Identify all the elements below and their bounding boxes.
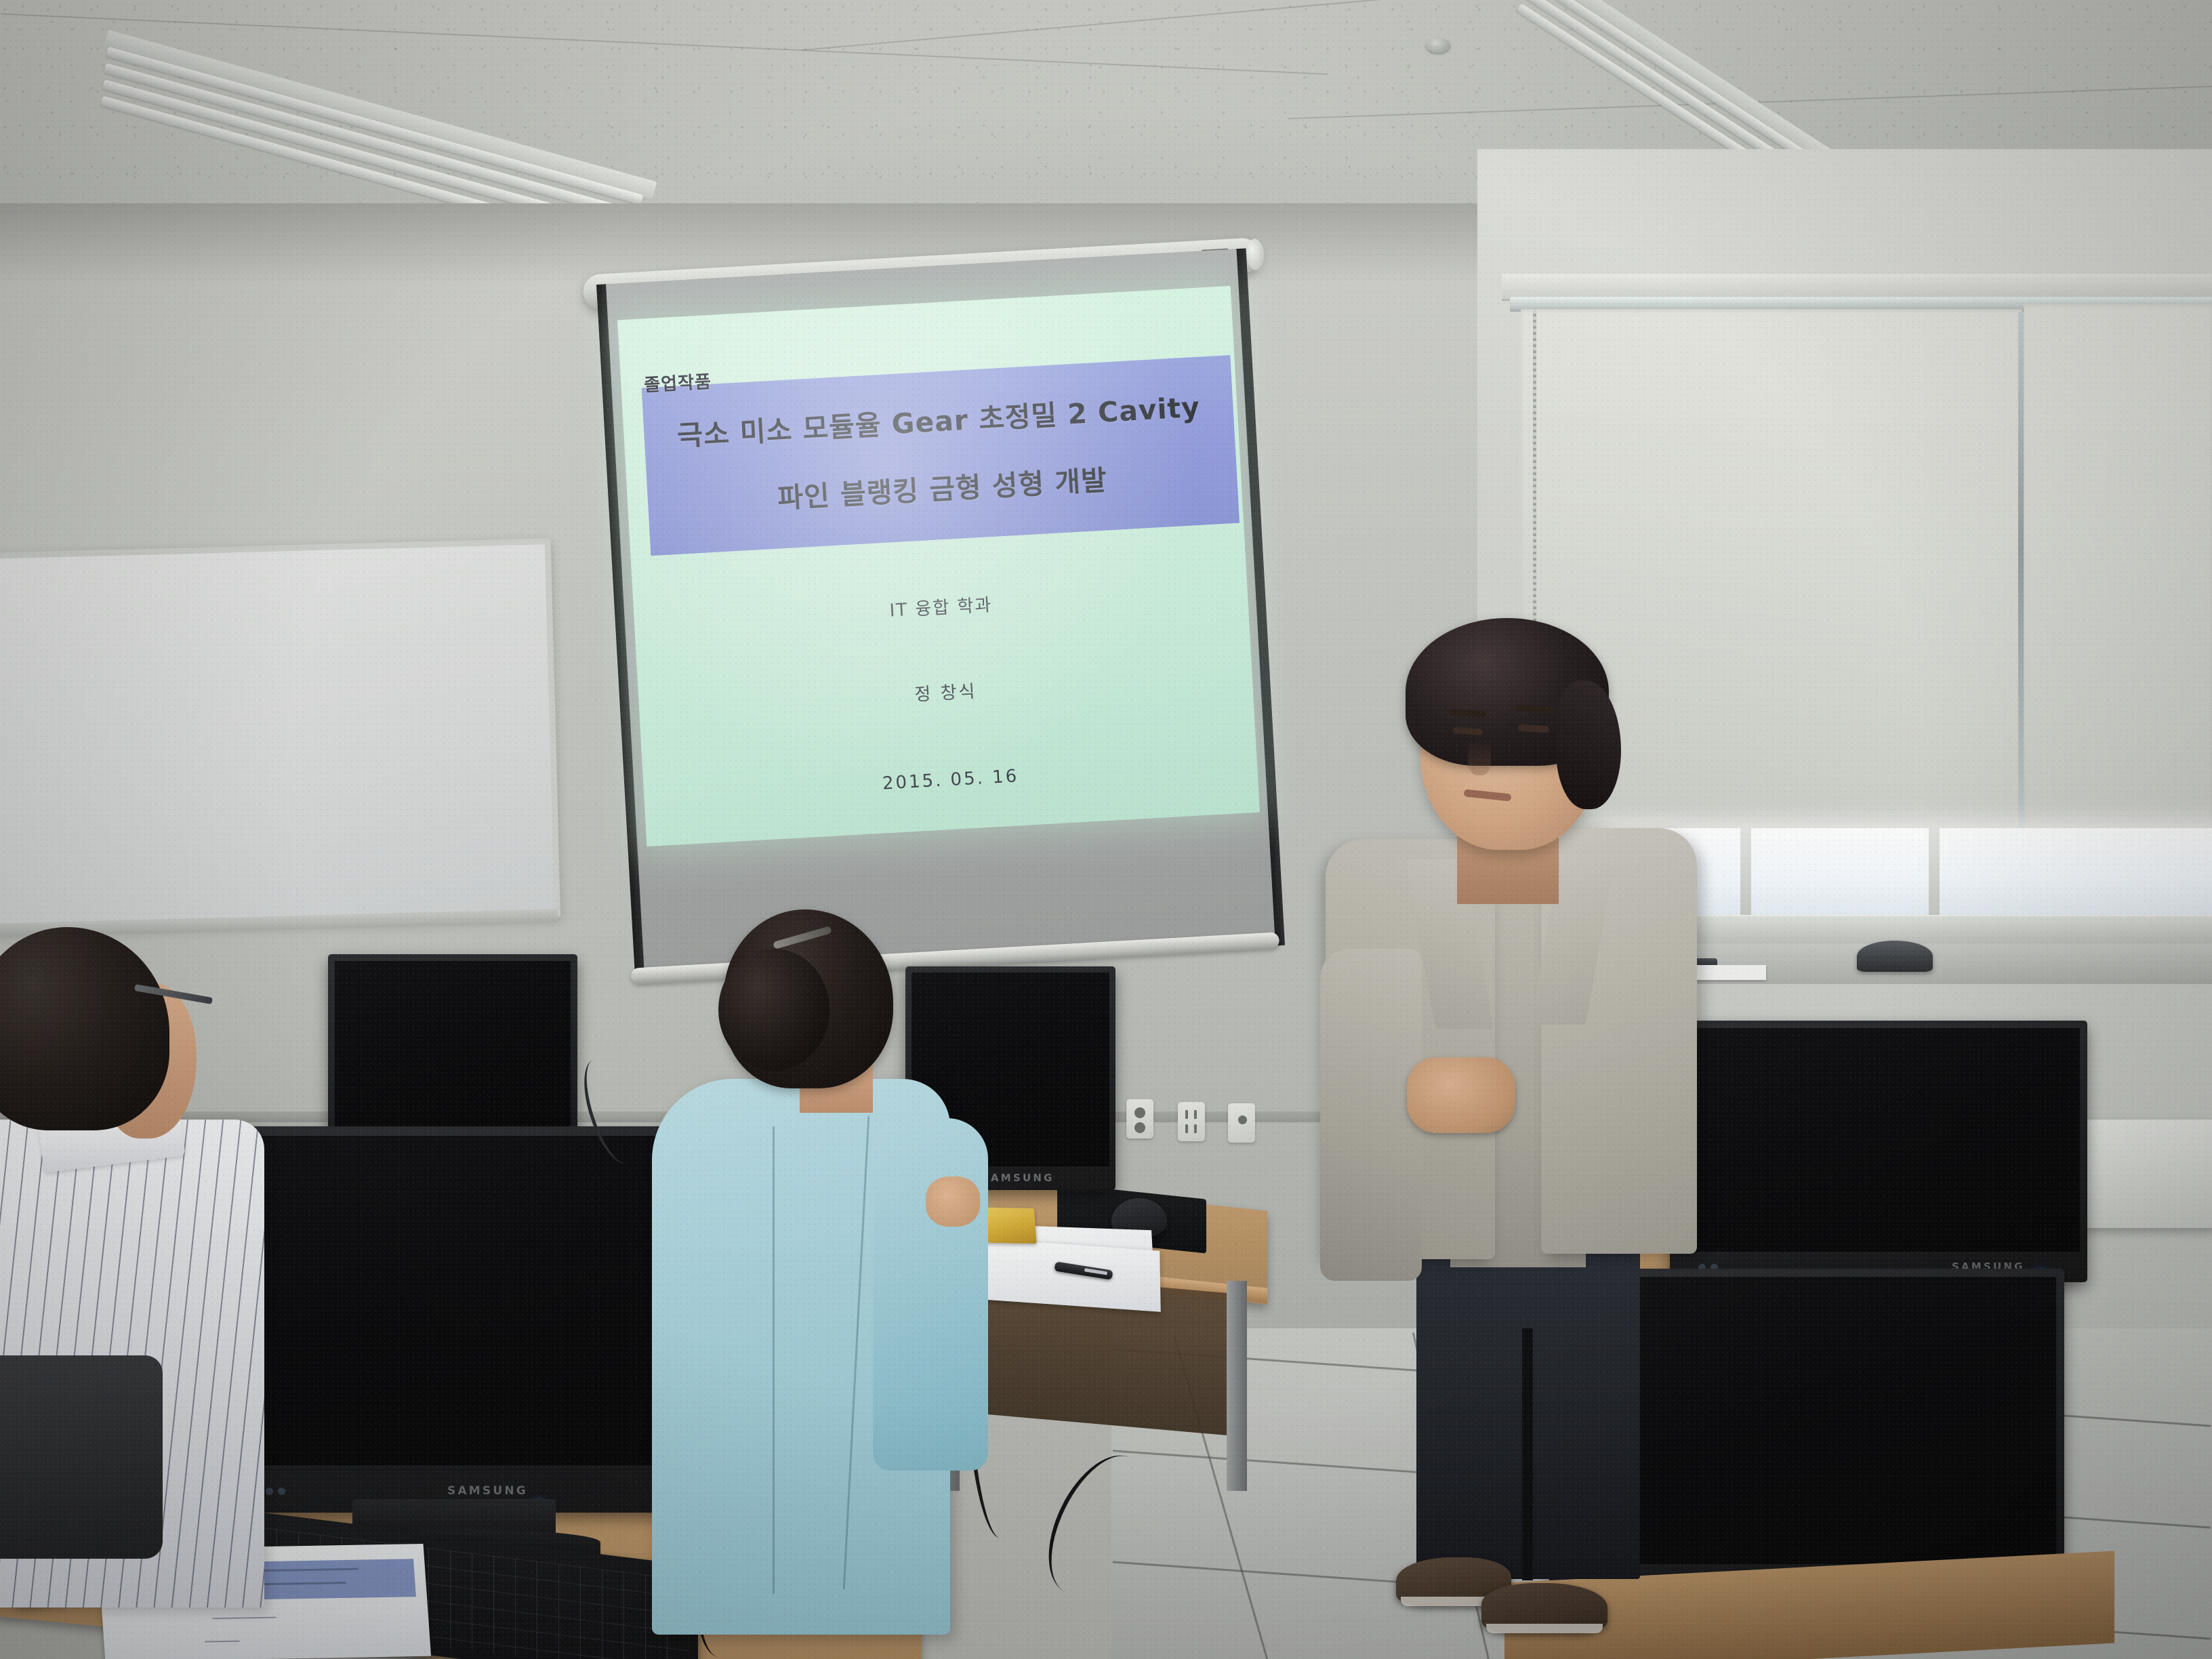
handout-department-line — [212, 1617, 276, 1620]
desk-center-leg — [1227, 1281, 1247, 1491]
whiteboard-surface — [0, 544, 554, 926]
monitor-menu-button[interactable] — [278, 1488, 285, 1495]
presenter-clasped-hands — [1407, 1057, 1515, 1133]
slide-title-band: 극소 미소 모듈율 Gear 초정밀 2 Cavity 파인 블랭킹 금형 성형… — [642, 355, 1240, 556]
presenter-arm-right — [1589, 943, 1689, 1262]
slide-department: IT 융합 학과 — [634, 577, 1248, 636]
monitor-front-left-buttons[interactable] — [266, 1488, 285, 1495]
woman-arm — [873, 1118, 988, 1471]
monitor-back-left-screen — [335, 961, 571, 1143]
whiteboard — [0, 538, 560, 933]
presenter-leg-separation — [1522, 1328, 1533, 1580]
outlet-hole — [1134, 1107, 1145, 1118]
slide-title-line-2: 파인 블랭킹 금형 성형 개발 — [647, 450, 1237, 523]
outlet-slot — [1185, 1110, 1188, 1119]
woman-hair-bun — [718, 949, 829, 1071]
blazer-seam — [843, 1115, 870, 1589]
monitor-right-back-screen — [1677, 1028, 2080, 1252]
handout-name-line — [205, 1641, 240, 1643]
pen-clip — [1084, 1268, 1107, 1275]
jack-port-icon — [1238, 1115, 1247, 1124]
presenter-shoe-right — [1481, 1583, 1607, 1633]
slide-title-line-1: 극소 미소 모듈율 Gear 초정밀 2 Cavity — [643, 382, 1234, 455]
seated-man-chair — [0, 1355, 163, 1559]
outlet-slot — [1185, 1124, 1188, 1133]
monitor-center-brand: SAMSUNG — [981, 1172, 1054, 1184]
roller-blind-left[interactable] — [1521, 309, 2022, 907]
monitor-front-left: SAMSUNG — [241, 1126, 716, 1513]
storage-box — [2083, 1120, 2212, 1228]
window-glass — [1606, 828, 2212, 916]
outlet-slot — [1194, 1124, 1197, 1133]
window-mullion — [1740, 828, 1751, 916]
classroom-photo: 극소 미소 모듈율 Gear 초정밀 2 Cavity 파인 블랭킹 금형 성형… — [0, 0, 2212, 1659]
smoke-detector-icon — [1426, 38, 1450, 53]
outlet-slot — [1194, 1110, 1197, 1119]
window-mullion — [1929, 828, 1940, 916]
shoe-sole — [1486, 1624, 1602, 1633]
slide-kicker-label: 졸업작품 — [643, 368, 712, 397]
power-outlet-korean[interactable] — [1126, 1099, 1153, 1139]
slide-date: 2015. 05. 16 — [643, 753, 1257, 808]
presenter-arm-left — [1320, 949, 1422, 1281]
power-outlet-nema[interactable] — [1178, 1102, 1205, 1141]
monitor-right-back: SAMSUNG — [1670, 1021, 2087, 1282]
slide-presenter-name: 정 창식 — [638, 662, 1253, 722]
blazer-seam — [773, 1126, 775, 1594]
woman-hand — [926, 1176, 980, 1227]
ledge-object-headphones — [1857, 941, 1933, 972]
projection-screen: 극소 미소 모듈율 Gear 초정밀 2 Cavity 파인 블랭킹 금형 성형… — [596, 248, 1285, 981]
data-jack-plate[interactable] — [1228, 1103, 1255, 1143]
outlet-hole — [1134, 1122, 1145, 1133]
projected-slide: 극소 미소 모듈율 Gear 초정밀 2 Cavity 파인 블랭킹 금형 성형… — [617, 286, 1260, 846]
monitor-power-button[interactable] — [266, 1488, 273, 1495]
presenter-nose — [1468, 740, 1491, 775]
monitor-front-left-screen — [251, 1136, 706, 1465]
monitor-front-left-brand: SAMSUNG — [447, 1484, 528, 1498]
